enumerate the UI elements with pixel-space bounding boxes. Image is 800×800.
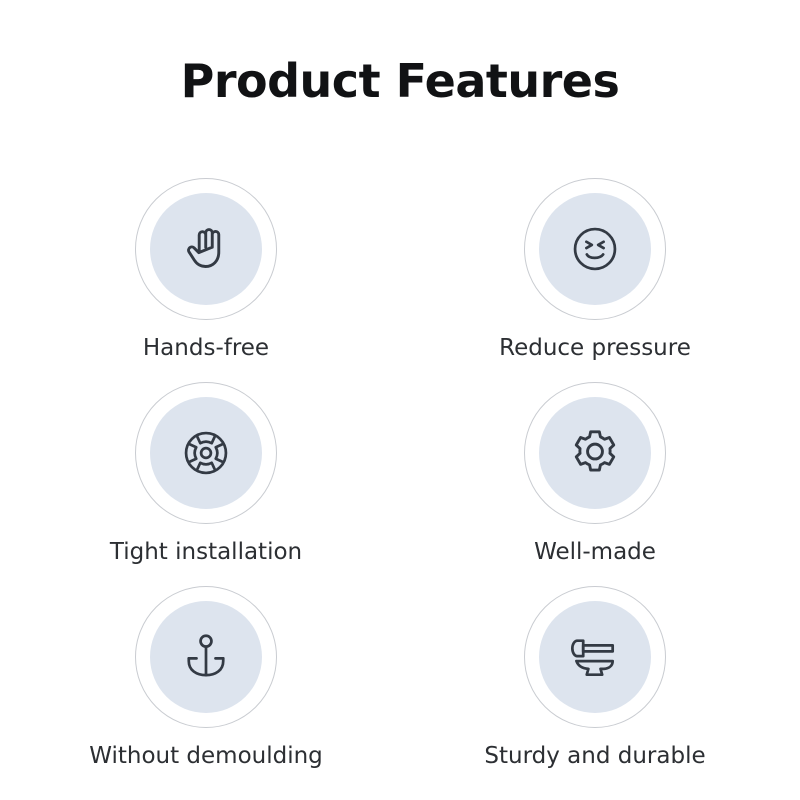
icon-disc bbox=[539, 397, 651, 509]
hammer-anvil-icon bbox=[566, 628, 624, 686]
feature-item-tight-installation: Tight installation bbox=[0, 382, 400, 586]
hand-icon bbox=[177, 220, 235, 278]
icon-badge-hands-free bbox=[135, 178, 277, 320]
feature-label: Without demoulding bbox=[89, 743, 323, 769]
wheel-icon bbox=[177, 424, 235, 482]
feature-item-without-demoulding: Without demoulding bbox=[0, 586, 400, 790]
feature-label: Well-made bbox=[534, 539, 656, 565]
feature-item-hands-free: Hands-free bbox=[0, 178, 400, 382]
feature-item-well-made: Well-made bbox=[400, 382, 800, 586]
features-grid: Hands-free Reduce pressure bbox=[0, 178, 800, 790]
feature-item-sturdy-and-durable: Sturdy and durable bbox=[400, 586, 800, 790]
icon-disc bbox=[150, 193, 262, 305]
feature-item-reduce-pressure: Reduce pressure bbox=[400, 178, 800, 382]
icon-badge-sturdy-and-durable bbox=[524, 586, 666, 728]
feature-label: Tight installation bbox=[110, 539, 302, 565]
smiley-face-icon bbox=[566, 220, 624, 278]
icon-badge-without-demoulding bbox=[135, 586, 277, 728]
icon-badge-well-made bbox=[524, 382, 666, 524]
anchor-icon bbox=[177, 628, 235, 686]
feature-label: Sturdy and durable bbox=[484, 743, 705, 769]
icon-badge-tight-installation bbox=[135, 382, 277, 524]
product-features-page: Product Features Hands-free bbox=[0, 0, 800, 800]
feature-label: Hands-free bbox=[143, 335, 269, 361]
feature-label: Reduce pressure bbox=[499, 335, 691, 361]
page-title: Product Features bbox=[0, 58, 800, 104]
gear-icon bbox=[566, 424, 624, 482]
icon-disc bbox=[539, 601, 651, 713]
icon-disc bbox=[150, 397, 262, 509]
icon-badge-reduce-pressure bbox=[524, 178, 666, 320]
icon-disc bbox=[539, 193, 651, 305]
icon-disc bbox=[150, 601, 262, 713]
